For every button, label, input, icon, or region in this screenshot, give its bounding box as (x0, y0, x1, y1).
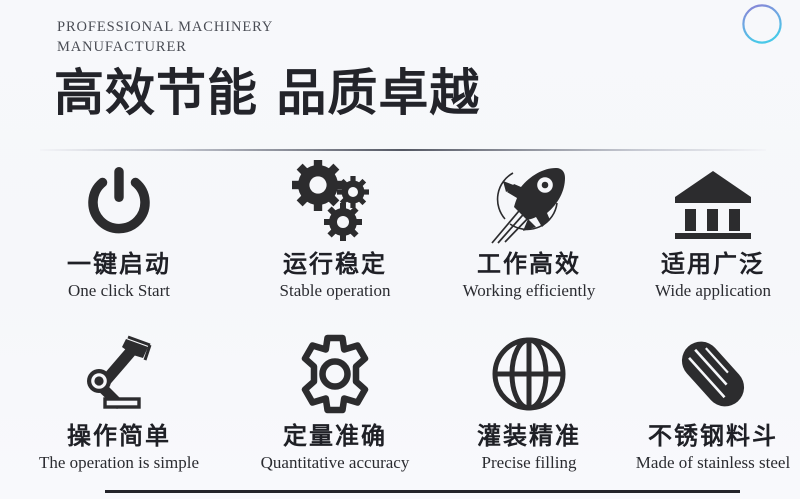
feature-label-en: Quantitative accuracy (261, 452, 410, 474)
feature-item-stainless-steel: 不锈钢料斗 Made of stainless steel (626, 330, 800, 490)
feature-label-cn: 适用广泛 (661, 250, 765, 278)
feature-label-cn: 不锈钢料斗 (648, 422, 778, 450)
feature-label-cn: 运行稳定 (283, 250, 387, 278)
eyebrow-line-1: PROFESSIONAL MACHINERY (57, 19, 273, 35)
eyebrow-line-2: MANUFACTURER (57, 37, 477, 57)
feature-item-operation-simple: 操作简单 The operation is simple (0, 330, 238, 490)
feature-item-quantitative-accuracy: 定量准确 Quantitative accuracy (238, 330, 432, 490)
robot-arm-icon (76, 330, 162, 418)
feature-item-wide-application: 适用广泛 Wide application (626, 160, 800, 330)
feature-label-en: Working efficiently (463, 280, 596, 302)
feature-item-stable-operation: 运行稳定 Stable operation (238, 160, 432, 330)
feature-label-cn: 一键启动 (67, 250, 171, 278)
feature-label-en: Precise filling (482, 452, 577, 474)
gear-outline-icon (293, 330, 377, 418)
feature-label-en: Wide application (655, 280, 771, 302)
power-button-icon (78, 160, 160, 246)
three-gears-icon (291, 160, 379, 246)
crosshair-target-icon (487, 330, 571, 418)
banner-header: PROFESSIONAL MACHINERY MANUFACTURER 高效节能… (0, 0, 800, 152)
header-divider (40, 149, 766, 151)
promo-banner: PROFESSIONAL MACHINERY MANUFACTURER 高效节能… (0, 0, 800, 499)
feature-label-en: The operation is simple (39, 452, 199, 474)
gradient-circle-outline-icon (740, 2, 784, 46)
stainless-steel-hopper-icon (672, 330, 754, 418)
rocket-icon (483, 160, 575, 246)
feature-item-working-efficiently: 工作高效 Working efficiently (432, 160, 626, 330)
feature-label-cn: 工作高效 (477, 250, 581, 278)
feature-label-en: Stable operation (280, 280, 391, 302)
feature-label-cn: 定量准确 (283, 422, 387, 450)
feature-label-cn: 灌装精准 (477, 422, 581, 450)
feature-item-one-click-start: 一键启动 One click Start (0, 160, 238, 330)
feature-label-en: Made of stainless steel (636, 452, 790, 474)
bank-building-icon (672, 160, 754, 246)
eyebrow-text: PROFESSIONAL MACHINERY MANUFACTURER (57, 17, 477, 57)
feature-label-en: One click Start (68, 280, 170, 302)
page-title: 高效节能 品质卓越 (54, 64, 480, 122)
feature-grid: 一键启动 One click Start (0, 160, 800, 490)
feature-label-cn: 操作简单 (67, 422, 171, 450)
feature-item-precise-filling: 灌装精准 Precise filling (432, 330, 626, 490)
bottom-rule (105, 490, 740, 493)
